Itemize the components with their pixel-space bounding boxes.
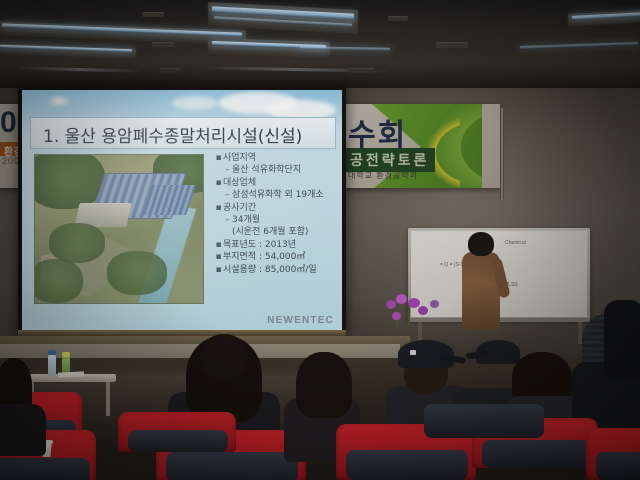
list-item: ▪부지면적 : 54,000㎡ [214,251,338,263]
photo-foliage [34,259,83,303]
bullet-text: 대상업체 [223,177,256,189]
orchid-flower [430,300,439,308]
bullet-mark: ▪ [214,251,223,263]
seat-back-panel [166,452,298,480]
bullet-mark: ▪ [214,264,223,276]
ceiling-vent [142,12,164,17]
audience-head [200,334,248,378]
bullet-mark: – [223,189,232,201]
banner-pole [500,108,504,200]
ceiling [0,0,640,92]
seat-back-panel [424,404,544,438]
slide-bullet-list: ▪사업지역 –울산 석유화학단지 ▪대상업체 –삼성석유화학 외 19개소 ▪공… [214,152,338,276]
projector-glare [46,94,72,108]
audience-torso [604,300,640,380]
bullet-text: 울산 석유화학단지 [232,164,301,176]
list-item: –34개월 [214,214,338,226]
seat-back-panel [128,430,228,452]
bullet-text: 시설용량 : 85,000㎥/일 [223,264,317,276]
bullet-text: 목표년도 : 2013년 [223,239,296,251]
bullet-mark: ▪ [214,202,223,214]
whiteboard-writing: Chemical [505,240,526,246]
list-item: ▪사업지역 [214,152,338,164]
ceiling-vent [152,42,174,47]
list-item: ▪목표년도 : 2013년 [214,239,338,251]
bullet-mark: – [223,164,232,176]
bullet-text: 부지면적 : 54,000㎡ [223,251,305,263]
audience-torso [0,404,46,456]
orchid-flower [392,312,401,320]
list-item: –삼성석유화학 외 19개소 [214,189,338,201]
orchid-flower [386,300,396,309]
photo-foliage [107,251,167,295]
photo-foliage [49,223,105,263]
lecture-hall-photo: 00 환경 2009. 수회 공전략토론 대학교 환경공학과 1. 울산 용암폐… [0,0,640,480]
list-item: –울산 석유화학단지 [214,164,338,176]
ceiling-light-6 [520,42,638,49]
water-bottle [48,354,56,376]
bullet-text: 사업지역 [223,152,256,164]
list-item: ▪공사기간 [214,202,338,214]
cap-logo [410,350,416,355]
bullet-mark: ▪ [214,239,223,251]
bullet-text: 삼성석유화학 외 19개소 [232,189,324,201]
slide-title-bar: 1. 울산 용암폐수종말처리시설(신설) [30,117,336,149]
list-item: (시운전 6개월 포함) [214,226,338,238]
list-item: ▪대상업체 [214,177,338,189]
slide-company-logo: NEWENTEC [267,315,334,326]
orchid-flower [418,306,428,315]
seat-back-panel [596,452,640,480]
seat-back-panel [346,450,468,480]
seat-back-panel [0,458,90,480]
bottle-cap [48,350,56,355]
bullet-text: (시운전 6개월 포함) [232,226,308,238]
slide-cloud [172,96,218,110]
projection-screen: 1. 울산 용암폐수종말처리시설(신설) ▪사업지역 –울산 석유화학단지 ▪대… [22,90,342,334]
presenter-head [468,232,494,256]
orchid-flower [408,298,420,308]
bullet-mark: ▪ [214,177,223,189]
list-item: ▪시설용량 : 85,000㎥/일 [214,264,338,276]
bottle-cap [62,352,70,357]
audience-hair [296,352,352,418]
orchid-flower [396,294,407,304]
bullet-mark: – [223,214,232,226]
slide-title: 1. 울산 용암폐수종말처리시설(신설) [43,122,302,147]
bullet-text: 34개월 [232,214,260,226]
seat-back-panel [482,440,592,468]
table-leg [106,382,110,416]
bullet-mark: ▪ [214,152,223,164]
bullet-text: 공사기간 [223,202,256,214]
ceiling-vent [388,16,408,21]
ceiling-vent [436,42,468,48]
slide-aerial-photo [34,154,204,304]
